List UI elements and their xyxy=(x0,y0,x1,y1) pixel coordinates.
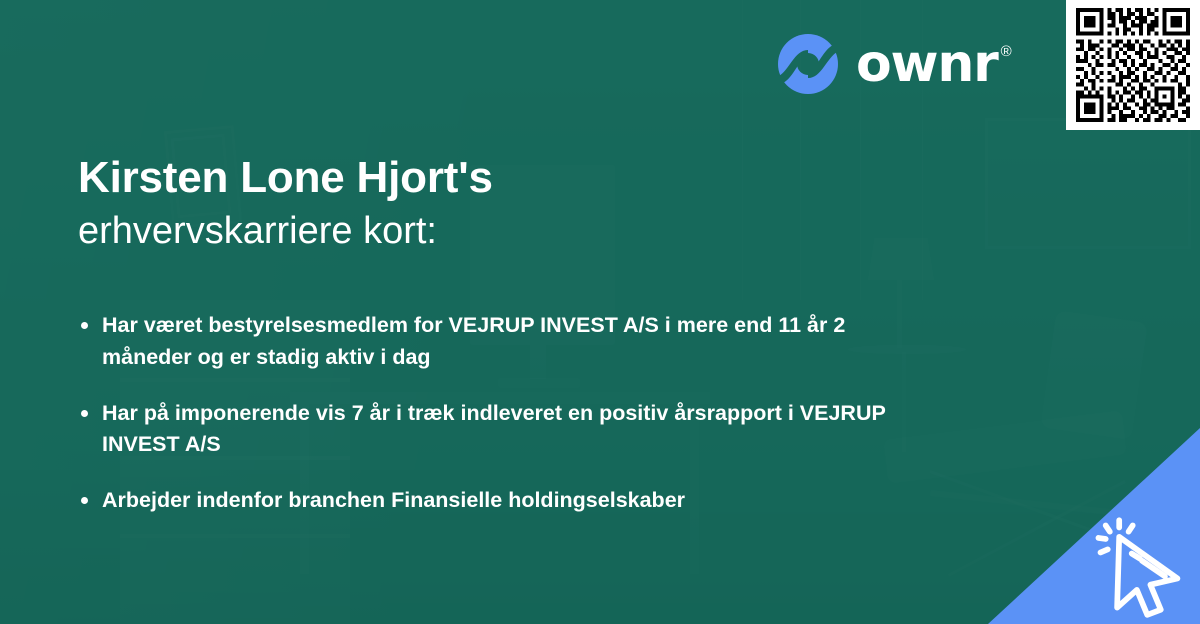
page-title: Kirsten Lone Hjort's xyxy=(78,152,493,203)
page-subtitle: erhvervskarriere kort: xyxy=(78,209,493,254)
list-item-text: Arbejder indenfor branchen Finansielle h… xyxy=(102,488,685,512)
bullet-dot-icon xyxy=(81,322,88,329)
qr-code[interactable] xyxy=(1076,8,1190,122)
registered-trademark-symbol: ® xyxy=(1001,44,1012,59)
bullet-dot-icon xyxy=(81,410,88,417)
ownr-wordmark: ownr xyxy=(856,38,998,90)
ownr-logo[interactable]: ownr ® xyxy=(778,34,1012,94)
list-item: Arbejder indenfor branchen Finansielle h… xyxy=(80,485,892,517)
bullet-dot-icon xyxy=(81,497,88,504)
list-item: Har været bestyrelsesmedlem for VEJRUP I… xyxy=(80,310,892,374)
list-item-text: Har været bestyrelsesmedlem for VEJRUP I… xyxy=(102,313,845,369)
list-item: Har på imponerende vis 7 år i træk indle… xyxy=(80,398,892,462)
career-highlights-list: Har været bestyrelsesmedlem for VEJRUP I… xyxy=(80,310,900,517)
ownr-swoosh-icon xyxy=(778,34,838,94)
qr-code-panel[interactable] xyxy=(1066,0,1200,130)
click-cursor-icon xyxy=(1088,514,1192,618)
page-heading-group: Kirsten Lone Hjort's erhvervskarriere ko… xyxy=(78,152,493,254)
blue-corner-accent xyxy=(988,428,1200,624)
career-summary-card: ownr ® xyxy=(0,0,1200,624)
list-item-text: Har på imponerende vis 7 år i træk indle… xyxy=(102,401,885,457)
